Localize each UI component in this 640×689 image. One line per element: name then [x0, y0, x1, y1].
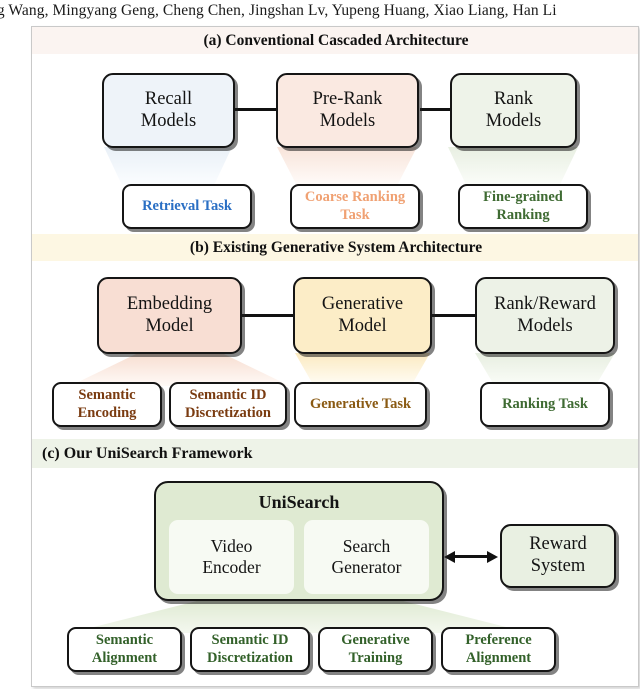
node-rank-models-line2: Models — [486, 111, 542, 133]
node-fine-grained-ranking-line1: Fine-grained — [483, 189, 563, 206]
node-rank-reward-models-line1: Rank/Reward — [494, 294, 596, 316]
node-reward-system-line1: Reward — [529, 534, 587, 556]
node-semantic-encoding[interactable]: Semantic Encoding — [52, 382, 162, 427]
panel-a-title: (a) Conventional Cascaded Architecture — [203, 32, 468, 50]
node-reward-system-line2: System — [531, 556, 585, 578]
node-generative-model-line2: Model — [338, 316, 386, 338]
node-pre-rank-models-line1: Pre-Rank — [313, 89, 383, 111]
node-generative-task[interactable]: Generative Task — [294, 382, 427, 427]
node-semantic-encoding-line2: Encoding — [78, 405, 137, 422]
connector-rank — [448, 147, 578, 185]
node-recall-models-line1: Recall — [145, 89, 192, 111]
panel-c-title: (c) Our UniSearch Framework — [42, 445, 252, 463]
node-retrieval-task-line1: Retrieval Task — [142, 198, 232, 215]
node-pre-rank-models[interactable]: Pre-Rank Models — [276, 73, 419, 148]
node-video-encoder-line1: Video — [211, 536, 253, 557]
figure-frame: (a) Conventional Cascaded Architecture R… — [31, 26, 639, 687]
node-reward-system[interactable]: Reward System — [500, 524, 616, 588]
node-recall-models[interactable]: Recall Models — [102, 73, 235, 148]
node-recall-models-line2: Models — [141, 111, 197, 133]
node-preference-alignment-line2: Alignment — [466, 650, 531, 667]
node-fine-grained-ranking-line2: Ranking — [496, 207, 549, 224]
panel-b-header: (b) Existing Generative System Architect… — [32, 234, 639, 261]
node-rank-reward-models[interactable]: Rank/Reward Models — [475, 277, 615, 354]
connector-recall — [104, 147, 232, 185]
node-preference-alignment-line1: Preference — [465, 632, 531, 649]
node-coarse-ranking-task-line2: Task — [340, 207, 369, 224]
node-semantic-id-discretization-c-line2: Discretization — [207, 650, 293, 667]
node-video-encoder-line2: Encoder — [202, 557, 260, 578]
node-semantic-encoding-line1: Semantic — [78, 387, 135, 404]
node-generative-model-line1: Generative — [322, 294, 403, 316]
node-retrieval-task[interactable]: Retrieval Task — [122, 184, 252, 229]
node-search-generator[interactable]: Search Generator — [304, 520, 429, 594]
node-rank-reward-models-line2: Models — [517, 316, 573, 338]
node-embedding-model-line1: Embedding — [127, 294, 212, 316]
node-search-generator-line1: Search — [343, 536, 391, 557]
node-semantic-alignment[interactable]: Semantic Alignment — [67, 627, 182, 672]
node-embedding-model-line2: Model — [145, 316, 193, 338]
panel-c-header: (c) Our UniSearch Framework — [32, 439, 639, 468]
node-unisearch-container[interactable]: UniSearch Video Encoder Search Generator — [154, 481, 444, 601]
node-coarse-ranking-task[interactable]: Coarse Ranking Task — [290, 184, 420, 229]
panel-a-header: (a) Conventional Cascaded Architecture — [32, 27, 639, 54]
node-preference-alignment[interactable]: Preference Alignment — [441, 627, 556, 672]
node-rank-models[interactable]: Rank Models — [450, 73, 577, 148]
node-generative-training[interactable]: Generative Training — [318, 627, 433, 672]
node-semantic-alignment-line2: Alignment — [92, 650, 157, 667]
node-semantic-alignment-line1: Semantic — [96, 632, 153, 649]
author-names: ng Wang, Mingyang Geng, Cheng Chen, Jing… — [0, 2, 557, 19]
node-video-encoder[interactable]: Video Encoder — [169, 520, 294, 594]
node-semantic-id-discretization-c-line1: Semantic ID — [212, 632, 289, 649]
node-semantic-id-discretization-c[interactable]: Semantic ID Discretization — [190, 627, 310, 672]
node-semantic-id-discretization-b-line2: Discretization — [185, 405, 271, 422]
node-rank-models-line1: Rank — [494, 89, 533, 111]
author-line: ng Wang, Mingyang Geng, Cheng Chen, Jing… — [0, 0, 640, 22]
unisearch-label: UniSearch — [259, 492, 340, 513]
connector-pre-rank — [277, 147, 417, 185]
node-generative-training-line1: Generative — [341, 632, 409, 649]
node-ranking-task-line1: Ranking Task — [502, 396, 588, 413]
node-semantic-id-discretization-b-line1: Semantic ID — [190, 387, 267, 404]
panel-b-title: (b) Existing Generative System Architect… — [190, 239, 482, 257]
node-generative-training-line2: Training — [349, 650, 403, 667]
node-ranking-task[interactable]: Ranking Task — [480, 382, 610, 427]
node-fine-grained-ranking[interactable]: Fine-grained Ranking — [458, 184, 588, 229]
node-search-generator-line2: Generator — [332, 557, 402, 578]
node-coarse-ranking-task-line1: Coarse Ranking — [305, 189, 405, 206]
node-generative-task-line1: Generative Task — [310, 396, 411, 413]
node-pre-rank-models-line2: Models — [320, 111, 376, 133]
node-embedding-model[interactable]: Embedding Model — [97, 277, 242, 354]
node-semantic-id-discretization-b[interactable]: Semantic ID Discretization — [169, 382, 287, 427]
node-generative-model[interactable]: Generative Model — [293, 277, 432, 354]
